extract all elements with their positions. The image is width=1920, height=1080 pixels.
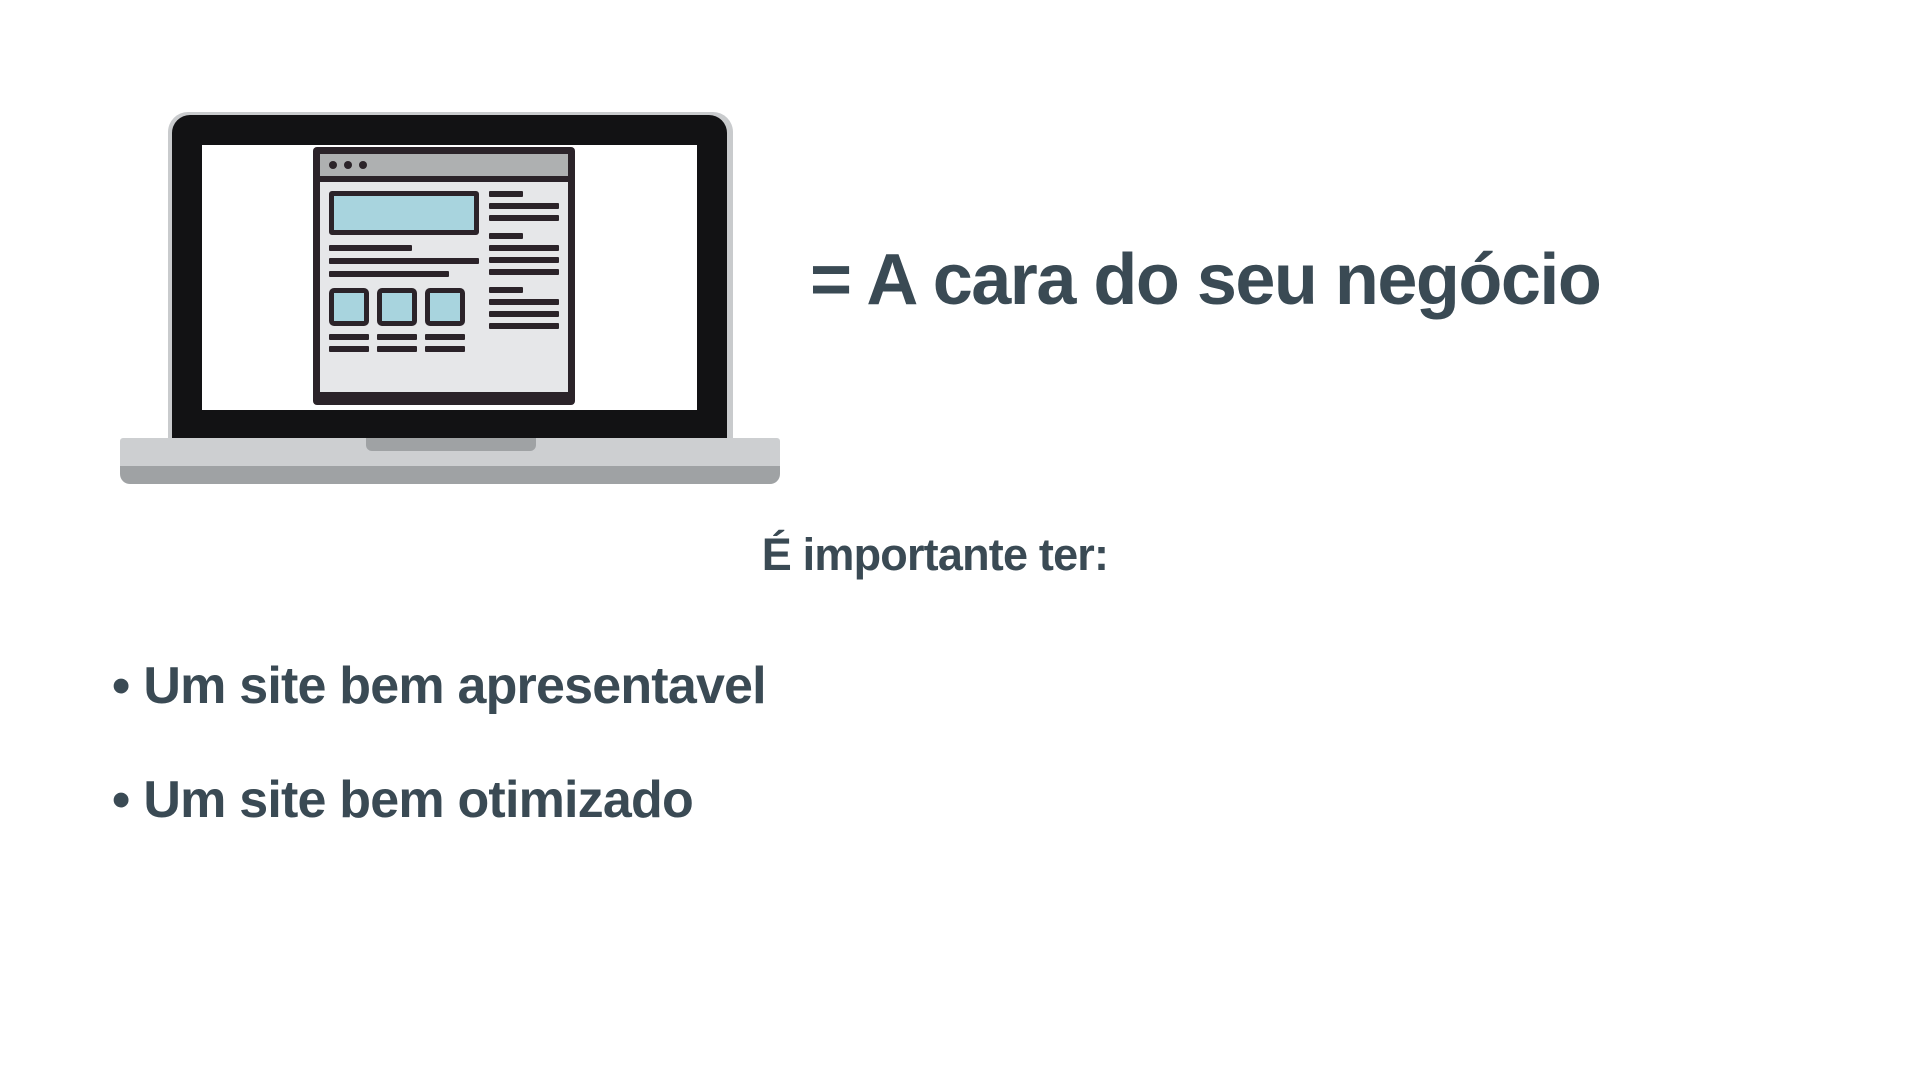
mockup-feature-card: [425, 288, 465, 326]
mockup-text-line: [329, 346, 369, 352]
mockup-text-line: [425, 346, 465, 352]
mockup-text-line: [329, 258, 479, 264]
mockup-text-line: [489, 287, 523, 293]
mockup-text-line: [489, 311, 559, 317]
mockup-text-line: [489, 257, 559, 263]
bullet-list: • Um site bem apresentavel • Um site bem…: [112, 660, 766, 826]
window-dot-icon: [359, 161, 367, 169]
window-dot-icon: [329, 161, 337, 169]
browser-content-area: [320, 182, 568, 392]
list-item-label: Um site bem apresentavel: [143, 660, 765, 712]
mockup-hero-banner: [329, 191, 479, 235]
mockup-text-line: [489, 215, 559, 221]
mockup-text-line: [329, 245, 412, 251]
list-item: • Um site bem apresentavel: [112, 660, 766, 712]
section-subtitle: É importante ter:: [0, 532, 1870, 577]
mockup-text-line: [425, 334, 465, 340]
mockup-text-line: [329, 334, 369, 340]
browser-window-mockup: [313, 147, 575, 405]
laptop-foot: [120, 466, 780, 484]
mockup-text-line: [377, 346, 417, 352]
bullet-marker-icon: •: [112, 774, 129, 826]
mockup-card-caption-row: [329, 346, 479, 352]
list-item-label: Um site bem otimizado: [143, 774, 693, 826]
mockup-sidebar-column: [489, 191, 559, 383]
laptop-trackpad-notch: [366, 438, 536, 451]
mockup-text-line: [489, 245, 559, 251]
mockup-feature-cards: [329, 288, 479, 326]
page-title: = A cara do seu negócio: [810, 244, 1600, 316]
mockup-feature-card: [377, 288, 417, 326]
mockup-text-line: [489, 269, 559, 275]
slide-canvas: = A cara do seu negócio É importante ter…: [0, 0, 1920, 1080]
mockup-text-line: [489, 191, 523, 197]
mockup-feature-card: [329, 288, 369, 326]
bullet-marker-icon: •: [112, 660, 129, 712]
mockup-text-line: [489, 323, 559, 329]
mockup-text-line: [489, 233, 523, 239]
list-item: • Um site bem otimizado: [112, 774, 766, 826]
mockup-text-line: [489, 203, 559, 209]
mockup-card-caption-row: [329, 334, 479, 340]
browser-titlebar: [320, 154, 568, 176]
mockup-text-line: [329, 271, 449, 277]
mockup-main-column: [329, 191, 479, 383]
mockup-text-line: [377, 334, 417, 340]
mockup-text-line: [489, 299, 559, 305]
window-dot-icon: [344, 161, 352, 169]
